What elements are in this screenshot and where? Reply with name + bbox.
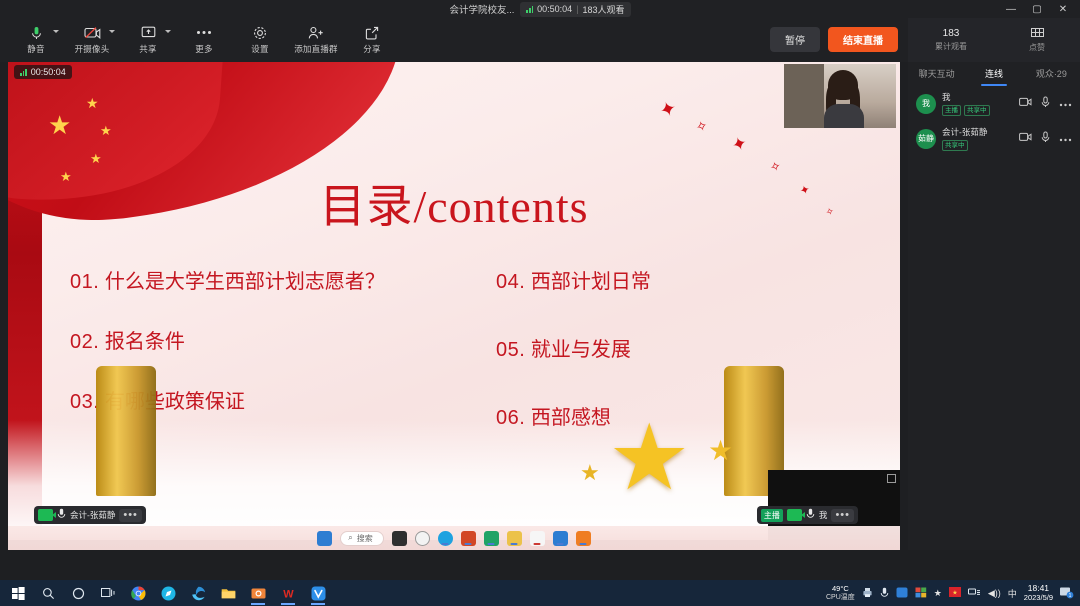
tab-connection[interactable]: 连线: [965, 62, 1022, 86]
toolbar-label: 添加直播群: [294, 43, 338, 55]
star-icon: ★: [580, 462, 600, 484]
avatar-hair: [828, 70, 858, 100]
camera-icon[interactable]: [1019, 132, 1032, 145]
window-controls: — ▢ ✕: [998, 0, 1076, 18]
live-streaming-app-window: 会计学院校友... 00:50:04 | 183人观看 — ▢ ✕ 静音: [0, 0, 1080, 580]
inner-search-box[interactable]: ⌕ 搜索: [340, 531, 383, 546]
svg-text:1: 1: [1069, 593, 1072, 599]
svg-text:★: ★: [952, 590, 957, 597]
microphone-icon[interactable]: [806, 508, 815, 522]
shared-screen-floatbar-left[interactable]: 会计-张茹静 •••: [34, 506, 146, 524]
edge-icon[interactable]: [438, 531, 453, 546]
slide-item-number: 03.: [70, 391, 99, 413]
star-icon: ★: [86, 92, 99, 114]
side-panel: 聊天互动 连线 观众·29 我 我 主播 共享中: [908, 62, 1080, 550]
title-bar: 会计学院校友... 00:50:04 | 183人观看 — ▢ ✕: [0, 0, 1080, 18]
onedrive-icon[interactable]: [896, 587, 908, 600]
share-link-button[interactable]: 分享: [344, 20, 400, 60]
star-icon: ★: [100, 120, 112, 142]
stat-value: 183: [943, 28, 960, 39]
bird-icon: ✧: [694, 117, 710, 137]
search-icon[interactable]: [34, 580, 62, 606]
add-person-icon: [308, 25, 325, 40]
search-icon: ⌕: [348, 533, 352, 543]
slide-item-number: 01.: [70, 271, 99, 293]
flag-icon[interactable]: ★: [949, 587, 961, 599]
video-wall: [784, 64, 824, 128]
stream-stats: 183 累计观看 点赞: [908, 18, 1080, 62]
status-badge: 主播: [942, 105, 961, 116]
participant-actions: [1019, 96, 1072, 111]
volume-icon[interactable]: ◀)): [988, 588, 1001, 599]
folder-icon[interactable]: [507, 531, 522, 546]
slide-item-text: 什么是大学生西部计划志愿者？: [105, 271, 385, 293]
host-badge: 主播: [761, 509, 783, 522]
chrome-icon[interactable]: [124, 580, 152, 606]
mute-button[interactable]: 静音: [8, 20, 64, 60]
toolbar-label: 静音: [27, 43, 44, 55]
participant-row[interactable]: 我 我 主播 共享中: [908, 86, 1080, 121]
signal-strength-icon: [526, 6, 533, 13]
active-indicator: [311, 603, 325, 605]
stat-label: 累计观看: [935, 41, 967, 52]
cpu-temp-label: CPU温度: [826, 593, 855, 602]
more-dots-icon[interactable]: •••: [831, 509, 854, 522]
slide-item-number: 05.: [496, 339, 525, 361]
security-icon[interactable]: [915, 587, 927, 600]
avatar-body: [824, 104, 864, 128]
pause-stream-button[interactable]: 暂停: [770, 27, 820, 52]
toolbar-label: 更多: [195, 43, 212, 55]
star-icon: ★: [90, 148, 102, 170]
participant-name: 我: [942, 91, 1013, 103]
file-explorer-icon[interactable]: [214, 580, 242, 606]
title-bar-content: 会计学院校友... 00:50:04 | 183人观看: [0, 0, 1080, 18]
taskbar-apps: W: [4, 580, 332, 606]
participant-info: 我 主播 共享中: [942, 91, 1013, 116]
more-dots-icon[interactable]: •••: [119, 509, 142, 522]
active-indicator: [281, 603, 295, 605]
wechat-icon[interactable]: [530, 531, 545, 546]
search-placeholder: 搜索: [357, 533, 373, 544]
microphone-icon[interactable]: [57, 508, 66, 522]
meeting-title: 会计学院校友...: [449, 2, 514, 16]
session-status-pill: 00:50:04 | 183人观看: [520, 2, 630, 17]
self-video-thumbnail[interactable]: [784, 64, 896, 128]
stat-label: 点赞: [1029, 42, 1045, 53]
clock-date: 2023/5/9: [1024, 593, 1053, 603]
cortana-icon[interactable]: [64, 580, 92, 606]
bird-icon: ✦: [658, 100, 679, 121]
camera-icon[interactable]: [1019, 97, 1032, 110]
more-dots-icon: [196, 25, 212, 40]
ime-indicator[interactable]: 中: [1008, 587, 1017, 600]
star-icon: ★: [708, 440, 733, 462]
toolbar-label: 开摄像头: [75, 43, 110, 55]
powerpoint-icon[interactable]: [461, 531, 476, 546]
toolbar-label: 共享: [139, 43, 156, 55]
screenshot-icon[interactable]: [244, 580, 272, 606]
microphone-icon[interactable]: [1041, 96, 1050, 111]
clock-time: 18:41: [1024, 583, 1053, 593]
slide-item-number: 04.: [496, 271, 525, 293]
wps-spreadsheet-icon[interactable]: [484, 531, 499, 546]
star-icon[interactable]: ★: [934, 588, 942, 599]
close-icon[interactable]: ✕: [1050, 0, 1076, 18]
avatar: 茹静: [916, 129, 936, 149]
more-button[interactable]: 更多: [176, 20, 232, 60]
start-icon[interactable]: [4, 580, 32, 606]
settings-button[interactable]: 设置: [232, 20, 288, 60]
tab-audience[interactable]: 观众·29: [1023, 62, 1080, 86]
star-icon: ★: [48, 114, 71, 136]
participant-tags: 共享中: [942, 140, 1013, 151]
dell-icon[interactable]: [415, 531, 430, 546]
slide-item-text: 西部计划日常: [531, 271, 651, 293]
signal-strength-icon: [20, 69, 27, 76]
slide-item: 01. 什么是大学生西部计划志愿者？: [70, 267, 454, 297]
stage-timer-badge: 00:50:04: [14, 65, 72, 79]
stream-actions: 暂停 结束直播: [770, 27, 898, 52]
slide-item: 04. 西部计划日常: [496, 267, 900, 297]
add-group-button[interactable]: 添加直播群: [288, 20, 344, 60]
share-external-icon: [365, 25, 379, 40]
system-tray: 49°C CPU温度 ★ ★ ◀)) 中 18:41 2023/5/9 1: [826, 580, 1074, 606]
slide-title: 目录/contents: [8, 170, 900, 236]
record-icon[interactable]: [576, 531, 591, 546]
gear-icon: [253, 25, 267, 40]
participant-actions: [1019, 131, 1072, 146]
participant-info: 会计-张茹静 共享中: [942, 126, 1013, 151]
participant-name: 会计-张茹静: [942, 126, 1013, 138]
end-stream-button[interactable]: 结束直播: [828, 27, 898, 52]
participant-row[interactable]: 茹静 会计-张茹静 共享中: [908, 121, 1080, 156]
camera-icon[interactable]: [787, 509, 802, 521]
slide-item-number: 02.: [70, 331, 99, 353]
tencent-meeting-icon[interactable]: [304, 580, 332, 606]
cpu-temp-widget[interactable]: 49°C CPU温度: [826, 584, 855, 602]
microphone-icon: [31, 25, 42, 40]
bird-icon: ✦: [730, 134, 750, 155]
maximize-icon[interactable]: ▢: [1024, 0, 1050, 18]
participant-tags: 主播 共享中: [942, 105, 1013, 116]
windows-taskbar: W 49°C CPU温度 ★ ★ ◀)) 中: [0, 580, 1080, 606]
clock[interactable]: 18:41 2023/5/9: [1024, 583, 1053, 603]
avatar: 我: [916, 94, 936, 114]
slide-item: 02. 报名条件: [70, 327, 454, 357]
camera-button[interactable]: 开摄像头: [64, 20, 120, 60]
tencent-meeting-icon[interactable]: [553, 531, 568, 546]
participant-name: 会计-张茹静: [70, 509, 115, 521]
chevron-down-icon[interactable]: [53, 30, 59, 33]
toolbar-label: 设置: [251, 43, 268, 55]
stat-likes: 点赞: [994, 28, 1080, 53]
elapsed-time: 00:50:04: [537, 4, 572, 14]
tab-chat[interactable]: 聊天互动: [908, 62, 965, 86]
safari-icon[interactable]: [154, 580, 182, 606]
shared-screen-stage[interactable]: ★ ★ ★ ★ ★ ✦ ✧ ✦ ✧ ✦ ✧ 目录/contents 01. 什么…: [8, 62, 900, 550]
printer-icon[interactable]: [862, 587, 873, 600]
edge-icon[interactable]: [184, 580, 212, 606]
start-icon[interactable]: [317, 531, 332, 546]
camera-off-icon: [84, 25, 101, 40]
inner-windows-taskbar: ⌕ 搜索: [8, 526, 900, 550]
panel-tabs: 聊天互动 连线 观众·29: [908, 62, 1080, 86]
task-view-icon[interactable]: [392, 531, 407, 546]
slide-item: 05. 就业与发展: [496, 335, 900, 365]
active-indicator: [251, 603, 265, 605]
toolbar-label: 分享: [363, 43, 380, 55]
big-gold-star-icon: ★: [608, 412, 690, 504]
slide-item-text: 就业与发展: [531, 339, 631, 361]
grid-icon: [1031, 28, 1044, 40]
minimize-icon[interactable]: —: [998, 0, 1024, 18]
more-dots-icon[interactable]: [1059, 98, 1072, 110]
expand-icon[interactable]: [887, 474, 896, 483]
chevron-down-icon[interactable]: [109, 30, 115, 33]
status-badge: 共享中: [942, 140, 968, 151]
stage-timer-value: 00:50:04: [31, 67, 66, 77]
wps-icon[interactable]: W: [274, 580, 302, 606]
stat-total-viewers: 183 累计观看: [908, 28, 994, 52]
status-badge: 共享中: [964, 105, 990, 116]
camera-icon[interactable]: [38, 509, 53, 521]
divider: |: [576, 4, 578, 14]
microphone-icon[interactable]: [1041, 131, 1050, 146]
share-screen-icon: [141, 25, 156, 40]
notification-icon[interactable]: 1: [1060, 586, 1074, 601]
task-view-icon[interactable]: [94, 580, 122, 606]
slide-item-text: 报名条件: [105, 331, 185, 353]
participant-name: 我: [819, 509, 828, 521]
shared-screen-floatbar-right[interactable]: 主播 我 •••: [757, 506, 858, 524]
cpu-temp-value: 49°C: [826, 584, 855, 593]
gold-pillar-left: [96, 366, 156, 496]
presentation-slide: ★ ★ ★ ★ ★ ✦ ✧ ✦ ✧ ✦ ✧ 目录/contents 01. 什么…: [8, 62, 900, 540]
main-toolbar: 静音 开摄像头 共享 更多: [0, 18, 908, 62]
share-screen-button[interactable]: 共享: [120, 20, 176, 60]
network-icon[interactable]: [968, 587, 981, 600]
chevron-down-icon[interactable]: [165, 30, 171, 33]
toolbar-items: 静音 开摄像头 共享 更多: [8, 20, 400, 60]
microphone-icon[interactable]: [880, 587, 889, 600]
viewer-count: 183人观看: [583, 3, 625, 16]
svg-text:W: W: [283, 588, 294, 600]
inner-taskbar-items: ⌕ 搜索: [8, 526, 900, 550]
more-dots-icon[interactable]: [1059, 133, 1072, 145]
